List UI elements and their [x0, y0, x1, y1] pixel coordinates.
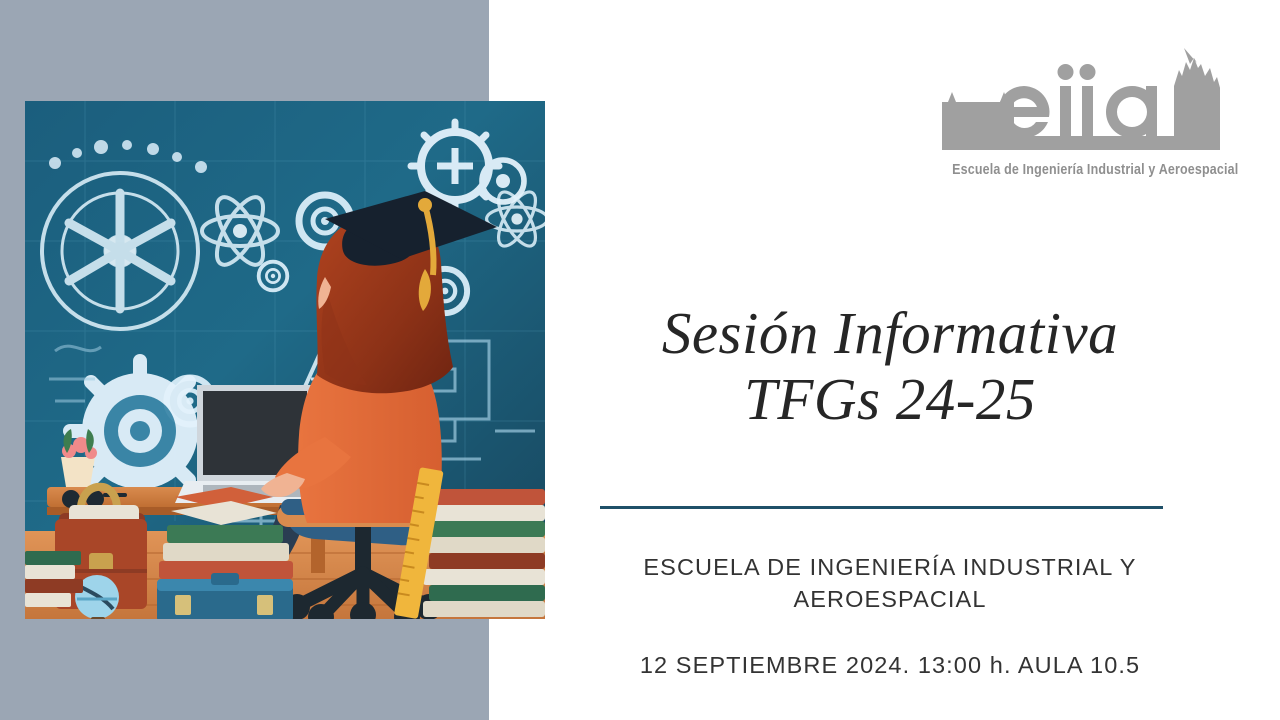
illustration-svg	[25, 101, 545, 619]
presentation-slide: Escuela de Ingeniería Industrial y Aeroe…	[0, 0, 1280, 720]
subtitle-line-2: AEROESPACIAL	[560, 584, 1220, 616]
eiia-logo-mark	[932, 40, 1220, 160]
title-line-2: TFGs 24-25	[560, 366, 1220, 432]
subtitle: ESCUELA DE INGENIERÍA INDUSTRIAL Y AEROE…	[560, 552, 1220, 615]
eiia-logo: Escuela de Ingeniería Industrial y Aeroe…	[932, 40, 1232, 192]
content-column: Escuela de Ingeniería Industrial y Aeroe…	[560, 0, 1280, 720]
page-title: Sesión Informativa TFGs 24-25	[560, 300, 1220, 432]
illustration-image	[25, 101, 545, 619]
event-details-line: 12 SEPTIEMBRE 2024. 13:00 h. AULA 10.5	[560, 652, 1220, 679]
logo-tagline: Escuela de Ingeniería Industrial y Aeroe…	[952, 162, 1200, 178]
title-line-1: Sesión Informativa	[560, 300, 1220, 366]
subtitle-line-1: ESCUELA DE INGENIERÍA INDUSTRIAL Y	[560, 552, 1220, 584]
event-details: 12 SEPTIEMBRE 2024. 13:00 h. AULA 10.5	[560, 652, 1220, 679]
title-divider	[600, 506, 1163, 509]
